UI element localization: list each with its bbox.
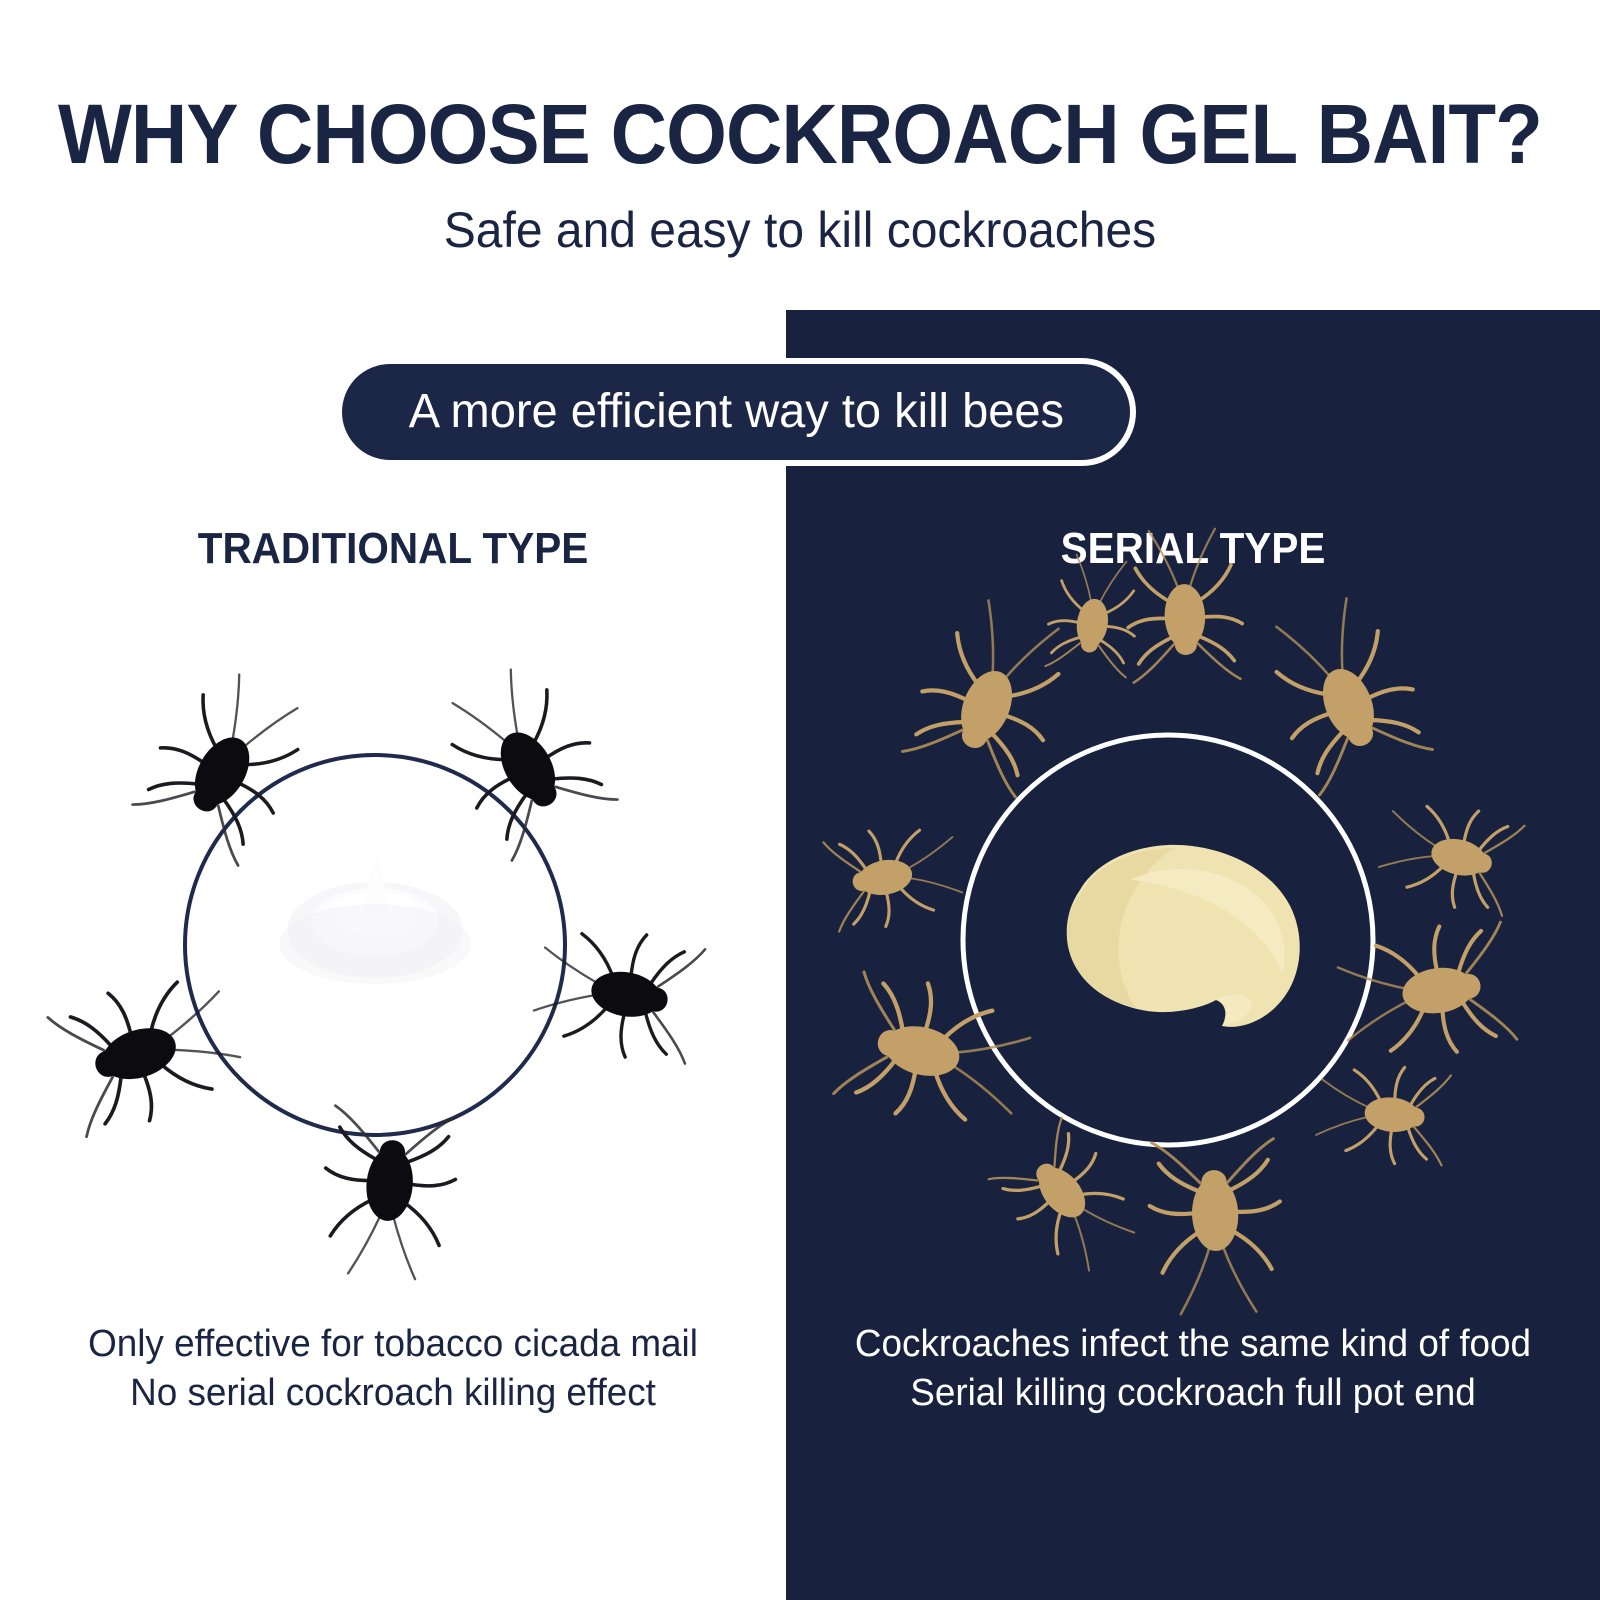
white-cream-swirl bbox=[279, 856, 471, 984]
yellow-gel-blob bbox=[1067, 845, 1300, 1027]
serial-caption-line-2: Serial killing cockroach full pot end bbox=[798, 1369, 1588, 1418]
serial-caption-line-1: Cockroaches infect the same kind of food bbox=[798, 1320, 1588, 1369]
serial-type-caption: Cockroaches infect the same kind of food… bbox=[786, 1320, 1600, 1417]
roach-silhouette bbox=[1314, 1059, 1451, 1169]
roach-silhouette bbox=[47, 961, 251, 1141]
serial-type-heading: SERIAL TYPE bbox=[819, 527, 1568, 571]
banner-label: A more efficient way to kill bees bbox=[408, 388, 1063, 436]
traditional-caption-line-1: Only effective for tobacco cicada mail bbox=[12, 1320, 774, 1369]
roach-silhouette bbox=[1374, 791, 1525, 919]
roach-silhouette bbox=[1334, 918, 1517, 1067]
serial-type-illustration bbox=[830, 590, 1530, 1310]
banner-pill: A more efficient way to kill bees bbox=[336, 358, 1136, 466]
infographic-canvas: WHY CHOOSE COCKROACH GEL BAIT? Safe and … bbox=[0, 0, 1600, 1600]
traditional-type-illustration bbox=[30, 600, 750, 1300]
roach-silhouette bbox=[425, 654, 621, 863]
traditional-caption-line-2: No serial cockroach killing effect bbox=[12, 1369, 774, 1418]
traditional-type-heading: TRADITIONAL TYPE bbox=[31, 527, 754, 571]
roach-silhouette bbox=[833, 968, 1037, 1141]
roach-silhouette bbox=[1148, 1138, 1284, 1315]
roach-silhouette bbox=[823, 817, 966, 934]
roach-silhouette bbox=[129, 659, 325, 868]
page-title: WHY CHOOSE COCKROACH GEL BAIT? bbox=[56, 92, 1544, 176]
traditional-type-caption: Only effective for tobacco cicada mail N… bbox=[0, 1320, 786, 1417]
roach-silhouette bbox=[529, 918, 706, 1068]
page-subtitle: Safe and easy to kill cockroaches bbox=[32, 205, 1568, 255]
